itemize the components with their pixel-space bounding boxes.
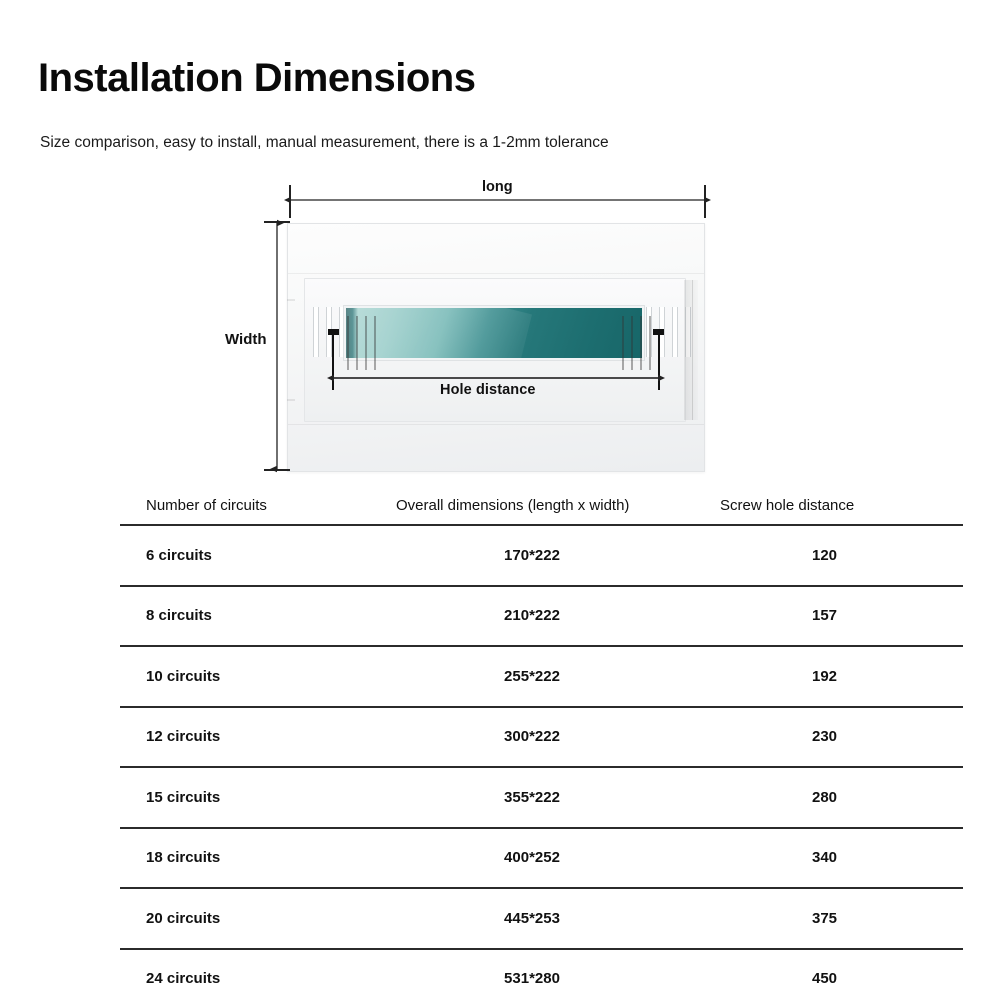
table-row: 15 circuits 355*222 280 [120,767,963,828]
column-header-screw-hole-distance: Screw hole distance [686,486,963,525]
cell-circuits: 15 circuits [120,767,378,828]
cell-circuits: 8 circuits [120,586,378,647]
table-row: 24 circuits 531*280 450 [120,949,963,1008]
box-hinge-shadow [684,280,698,420]
table-row: 10 circuits 255*222 192 [120,646,963,707]
box-side-nub-upper [287,299,295,301]
glass-highlight-sheen [346,308,533,358]
cell-screw-hole: 230 [686,707,963,768]
table-row: 8 circuits 210*222 157 [120,586,963,647]
vent-slot [685,307,691,357]
cell-circuits: 6 circuits [120,525,378,586]
table-row: 6 circuits 170*222 120 [120,525,963,586]
box-door-panel [304,278,686,422]
distribution-box-illustration [287,223,705,472]
dimension-label-width: Width [225,331,267,348]
cell-dimensions: 400*252 [378,828,686,889]
cell-dimensions: 355*222 [378,767,686,828]
vent-slot [313,307,319,357]
cell-dimensions: 255*222 [378,646,686,707]
dimensions-table: Number of circuits Overall dimensions (l… [120,486,963,1008]
cell-circuits: 24 circuits [120,949,378,1008]
cell-circuits: 12 circuits [120,707,378,768]
vent-slots-left [313,307,358,357]
cell-dimensions: 531*280 [378,949,686,1008]
cell-dimensions: 170*222 [378,525,686,586]
cell-screw-hole: 375 [686,888,963,949]
cell-dimensions: 210*222 [378,586,686,647]
table-body: 6 circuits 170*222 120 8 circuits 210*22… [120,525,963,1008]
table-header: Number of circuits Overall dimensions (l… [120,486,963,525]
table-row: 20 circuits 445*253 375 [120,888,963,949]
cell-screw-hole: 120 [686,525,963,586]
dimension-label-long: long [482,179,513,195]
vent-slots-right [646,307,691,357]
cell-screw-hole: 157 [686,586,963,647]
cell-dimensions: 300*222 [378,707,686,768]
cell-circuits: 10 circuits [120,646,378,707]
column-header-number-of-circuits: Number of circuits [120,486,378,525]
table-row: 12 circuits 300*222 230 [120,707,963,768]
cell-screw-hole: 340 [686,828,963,889]
vent-slot [672,307,678,357]
box-window-glass [346,308,642,358]
vent-slot [352,307,358,357]
vent-slot [659,307,665,357]
cell-dimensions: 445*253 [378,888,686,949]
box-side-nub-lower [287,399,295,401]
cell-circuits: 18 circuits [120,828,378,889]
page-subtitle: Size comparison, easy to install, manual… [40,134,609,152]
cell-screw-hole: 280 [686,767,963,828]
box-seam-bottom [288,424,704,425]
page-title: Installation Dimensions [38,56,475,101]
cell-circuits: 20 circuits [120,888,378,949]
cell-screw-hole: 192 [686,646,963,707]
cell-screw-hole: 450 [686,949,963,1008]
dimension-label-hole-distance: Hole distance [440,382,536,398]
vent-slot [339,307,345,357]
column-header-overall-dimensions: Overall dimensions (length x width) [378,486,686,525]
glass-left-edge-shadow [346,308,358,358]
box-hinge-line [692,280,693,420]
box-window-frame [343,305,645,361]
vent-slot [326,307,332,357]
vent-slot [646,307,652,357]
table-header-row: Number of circuits Overall dimensions (l… [120,486,963,525]
table-row: 18 circuits 400*252 340 [120,828,963,889]
box-seam-top [288,273,704,274]
